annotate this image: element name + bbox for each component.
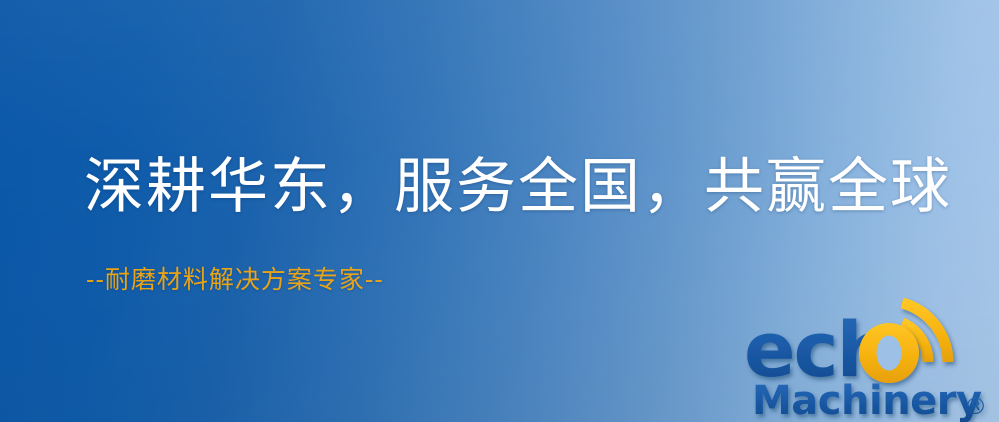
promo-banner: 深耕华东，服务全国，共赢全球 --耐磨材料解决方案专家-- — [0, 0, 999, 422]
logo-tagline: Machinery — [752, 378, 982, 422]
registered-trademark-icon: ® — [964, 394, 987, 420]
headline-text: 深耕华东，服务全国，共赢全球 — [84, 150, 952, 224]
echo-machinery-logo: ech Machinery ® — [742, 296, 999, 422]
subtitle-text: --耐磨材料解决方案专家-- — [86, 264, 384, 296]
logo-wordmark-o — [859, 323, 919, 383]
